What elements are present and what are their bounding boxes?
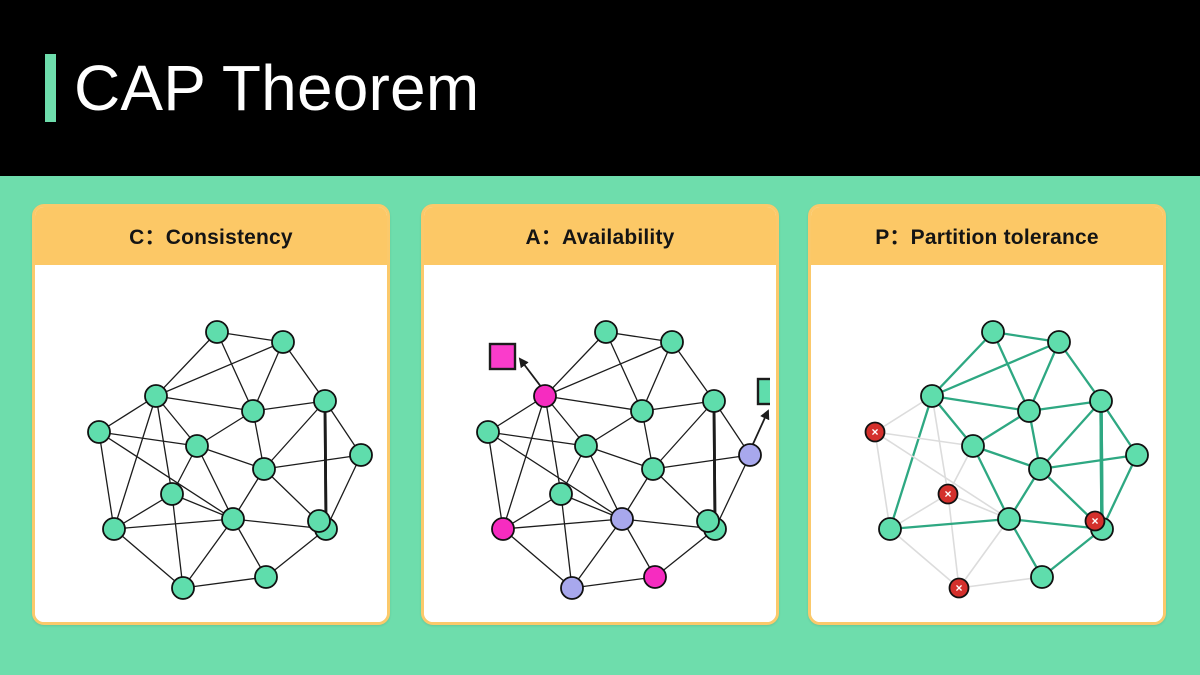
- graph-node[interactable]: [242, 400, 264, 422]
- graph-node[interactable]: [103, 518, 125, 540]
- card-consistency[interactable]: C：Consistency: [32, 204, 390, 625]
- graph-node[interactable]: [1048, 331, 1070, 353]
- card-body-partition-tolerance: ××××: [811, 265, 1163, 622]
- graph-edge: [932, 396, 1029, 411]
- graph-node-failed[interactable]: ×: [950, 579, 969, 598]
- graph-edge: [545, 396, 561, 494]
- graph-node[interactable]: [1029, 458, 1051, 480]
- graph-edge: [99, 432, 197, 446]
- node-circle[interactable]: [595, 321, 617, 343]
- card-header-availability: A：Availability: [424, 207, 776, 265]
- graph-node[interactable]: [206, 321, 228, 343]
- node-circle[interactable]: [1031, 566, 1053, 588]
- graph-edge: [114, 529, 183, 588]
- node-circle[interactable]: [492, 518, 514, 540]
- graph-node[interactable]: [595, 321, 617, 343]
- node-circle[interactable]: [350, 444, 372, 466]
- node-circle[interactable]: [477, 421, 499, 443]
- graph-node[interactable]: [879, 518, 901, 540]
- graph-edge: [875, 432, 973, 446]
- node-circle[interactable]: [644, 566, 666, 588]
- node-circle[interactable]: [272, 331, 294, 353]
- card-title-consistency: C：Consistency: [129, 221, 293, 251]
- node-circle[interactable]: [534, 385, 556, 407]
- node-circle[interactable]: [550, 483, 572, 505]
- graph-node[interactable]: [1031, 566, 1053, 588]
- graph-node[interactable]: [534, 385, 556, 407]
- graph-edge: [325, 401, 326, 529]
- node-circle[interactable]: [703, 390, 725, 412]
- graph-node[interactable]: [921, 385, 943, 407]
- graph-node[interactable]: [186, 435, 208, 457]
- node-failed-x-icon: ×: [955, 581, 962, 595]
- graph-edge: [172, 494, 183, 588]
- card-partition-tolerance[interactable]: P：Partition tolerance ××××: [808, 204, 1166, 625]
- graph-edge: [1102, 455, 1137, 529]
- node-circle[interactable]: [314, 390, 336, 412]
- graph-edge: [545, 332, 606, 396]
- node-circle[interactable]: [1029, 458, 1051, 480]
- graph-edge: [714, 401, 715, 529]
- graph-edge: [890, 396, 932, 529]
- node-circle[interactable]: [561, 577, 583, 599]
- graph-node[interactable]: [998, 508, 1020, 530]
- graph-edge: [890, 519, 1009, 529]
- node-circle[interactable]: [1126, 444, 1148, 466]
- graph-node[interactable]: [172, 577, 194, 599]
- graph-edge: [503, 529, 572, 588]
- node-circle[interactable]: [575, 435, 597, 457]
- graph-node[interactable]: [350, 444, 372, 466]
- node-circle[interactable]: [982, 321, 1004, 343]
- graph-edge: [715, 455, 750, 529]
- node-circle[interactable]: [253, 458, 275, 480]
- graph-node[interactable]: [661, 331, 683, 353]
- graph-edge: [572, 577, 655, 588]
- graph-node[interactable]: [314, 390, 336, 412]
- network-graph-consistency: [41, 271, 381, 616]
- green-response-square: [758, 379, 770, 404]
- graph-node[interactable]: [697, 510, 719, 532]
- graph-node-failed[interactable]: ×: [1086, 512, 1105, 531]
- graph-edge: [156, 396, 172, 494]
- graph-node[interactable]: [253, 458, 275, 480]
- node-circle[interactable]: [642, 458, 664, 480]
- graph-edge: [890, 529, 959, 588]
- node-circle[interactable]: [145, 385, 167, 407]
- graph-edge: [993, 332, 1029, 411]
- graph-node[interactable]: [272, 331, 294, 353]
- graph-node[interactable]: [631, 400, 653, 422]
- graph-edge: [99, 432, 114, 529]
- graph-edge: [572, 519, 622, 588]
- card-title-availability: A：Availability: [525, 221, 674, 251]
- node-circle[interactable]: [631, 400, 653, 422]
- graph-node[interactable]: [703, 390, 725, 412]
- node-circle[interactable]: [921, 385, 943, 407]
- network-graph-availability: [430, 271, 770, 616]
- graph-node[interactable]: [255, 566, 277, 588]
- node-circle[interactable]: [172, 577, 194, 599]
- graph-edge: [653, 401, 714, 469]
- graph-node[interactable]: [88, 421, 110, 443]
- graph-node[interactable]: [739, 444, 761, 466]
- graph-edge: [875, 432, 1009, 519]
- graph-node[interactable]: [308, 510, 330, 532]
- graph-edge: [1040, 401, 1101, 469]
- node-circle[interactable]: [308, 510, 330, 532]
- graph-edge: [959, 577, 1042, 588]
- node-circle[interactable]: [661, 331, 683, 353]
- node-circle[interactable]: [222, 508, 244, 530]
- graph-edge: [653, 455, 750, 469]
- node-failed-x-icon: ×: [1091, 514, 1098, 528]
- graph-edge: [959, 519, 1009, 588]
- graph-edge: [264, 455, 361, 469]
- node-circle[interactable]: [1018, 400, 1040, 422]
- node-circle[interactable]: [739, 444, 761, 466]
- card-header-consistency: C：Consistency: [35, 207, 387, 265]
- node-circle[interactable]: [255, 566, 277, 588]
- card-title-partition-tolerance: P：Partition tolerance: [875, 221, 1099, 251]
- graph-edge: [503, 396, 545, 529]
- graph-node-failed[interactable]: ×: [939, 485, 958, 504]
- graph-node[interactable]: [561, 577, 583, 599]
- graph-edge: [488, 432, 503, 529]
- node-circle[interactable]: [242, 400, 264, 422]
- graph-node-failed[interactable]: ×: [866, 423, 885, 442]
- node-circle[interactable]: [206, 321, 228, 343]
- graph-edge: [875, 432, 890, 529]
- graph-node[interactable]: [550, 483, 572, 505]
- node-circle[interactable]: [186, 435, 208, 457]
- graph-edge: [932, 332, 993, 396]
- node-circle[interactable]: [161, 483, 183, 505]
- graph-node[interactable]: [477, 421, 499, 443]
- graph-edge: [606, 332, 642, 411]
- graph-edge: [503, 519, 622, 529]
- graph-edge: [156, 396, 253, 411]
- graph-edge: [1101, 401, 1102, 529]
- graph-node[interactable]: [161, 483, 183, 505]
- graph-edge: [99, 432, 233, 519]
- graph-edge: [156, 342, 283, 396]
- graph-node[interactable]: [1126, 444, 1148, 466]
- node-circle[interactable]: [879, 518, 901, 540]
- title-accent-bar: [45, 54, 56, 122]
- graph-node[interactable]: [642, 458, 664, 480]
- magenta-response-square: [490, 344, 515, 369]
- node-failed-x-icon: ×: [871, 425, 878, 439]
- graph-node[interactable]: [611, 508, 633, 530]
- graph-node[interactable]: [1090, 390, 1112, 412]
- graph-edge: [264, 401, 325, 469]
- slide-root: CAP Theorem C：Consistency A：Availability…: [0, 0, 1200, 675]
- page-title: CAP Theorem: [74, 42, 479, 134]
- node-circle[interactable]: [1090, 390, 1112, 412]
- card-header-partition-tolerance: P：Partition tolerance: [811, 207, 1163, 265]
- graph-edge: [488, 432, 586, 446]
- node-circle[interactable]: [88, 421, 110, 443]
- graph-edge: [561, 494, 572, 588]
- graph-edge: [217, 332, 253, 411]
- graph-node[interactable]: [492, 518, 514, 540]
- node-circle[interactable]: [697, 510, 719, 532]
- cards-row: C：Consistency A：Availability P：Partition…: [0, 204, 1200, 628]
- graph-edge: [1040, 455, 1137, 469]
- graph-node[interactable]: [145, 385, 167, 407]
- node-circle[interactable]: [103, 518, 125, 540]
- network-graph-partition-tolerance: ××××: [817, 271, 1157, 616]
- graph-edge: [545, 396, 642, 411]
- graph-edge: [545, 342, 672, 396]
- graph-edge: [932, 396, 948, 494]
- node-circle[interactable]: [611, 508, 633, 530]
- graph-node[interactable]: [1018, 400, 1040, 422]
- node-circle[interactable]: [1048, 331, 1070, 353]
- graph-edge: [183, 519, 233, 588]
- graph-node[interactable]: [982, 321, 1004, 343]
- graph-edge: [114, 396, 156, 529]
- graph-node[interactable]: [575, 435, 597, 457]
- graph-edge: [183, 577, 266, 588]
- graph-edge: [948, 494, 959, 588]
- card-body-availability: [424, 265, 776, 622]
- node-failed-x-icon: ×: [944, 487, 951, 501]
- graph-node[interactable]: [962, 435, 984, 457]
- graph-edge: [326, 455, 361, 529]
- node-circle[interactable]: [998, 508, 1020, 530]
- graph-edge: [156, 332, 217, 396]
- card-body-consistency: [35, 265, 387, 622]
- graph-edge: [114, 519, 233, 529]
- card-availability[interactable]: A：Availability: [421, 204, 779, 625]
- node-circle[interactable]: [962, 435, 984, 457]
- graph-node[interactable]: [644, 566, 666, 588]
- graph-node[interactable]: [222, 508, 244, 530]
- graph-edge: [488, 432, 622, 519]
